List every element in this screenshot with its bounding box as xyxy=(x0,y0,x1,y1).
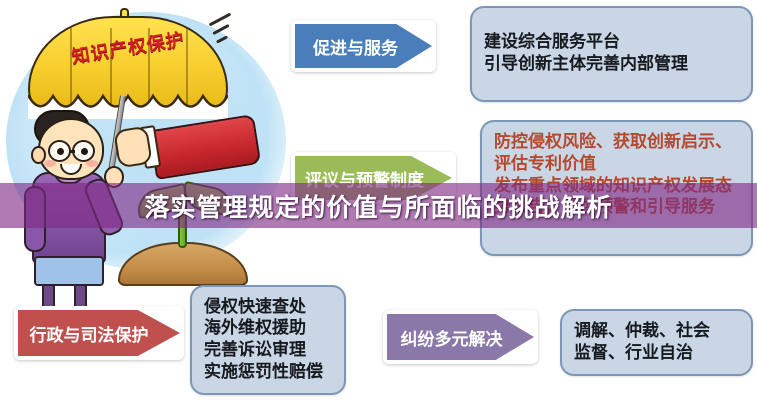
arrow-label-promotion-service: 促进与服务 xyxy=(313,34,398,59)
detail-text-dispute-resolution: 调解、仲裁、社会 监督、行业自治 xyxy=(562,321,722,365)
detail-text-admin-judicial-protection: 侵权快速查处 海外维权援助 完善诉讼审理 实施惩罚性赔偿 xyxy=(192,297,335,384)
arrow-label-admin-judicial-protection: 行政与司法保护 xyxy=(30,321,149,346)
overlay-banner: 落实管理规定的价值与所面临的挑战解析 xyxy=(0,183,757,228)
arrow-admin-judicial-protection[interactable]: 行政与司法保护 xyxy=(14,306,184,360)
detail-text-promotion-service: 建设综合服务平台 引导创新主体完善内部管理 xyxy=(472,32,700,76)
motion-lines-icon xyxy=(206,14,246,48)
boy-cheek-left xyxy=(44,160,56,167)
detail-box-dispute-resolution[interactable]: 调解、仲裁、社会 监督、行业自治 xyxy=(560,309,753,376)
gripping-hand xyxy=(113,126,153,169)
arrow-promotion-service[interactable]: 促进与服务 xyxy=(291,20,436,72)
arrow-dispute-resolution[interactable]: 纠纷多元解决 xyxy=(383,310,538,364)
detail-box-admin-judicial-protection[interactable]: 侵权快速查处 海外维权援助 完善诉讼审理 实施惩罚性赔偿 xyxy=(190,285,346,395)
boy-eye-right xyxy=(81,148,88,155)
boy-cheek-right xyxy=(86,160,98,167)
ip-protection-illustration: 知识产权保护 xyxy=(0,0,300,285)
umbrella-icon: 知识产权保护 xyxy=(28,8,228,118)
boy-shorts xyxy=(34,256,104,286)
boy-eye-left xyxy=(57,148,64,155)
banner-title: 落实管理规定的价值与所面临的挑战解析 xyxy=(144,188,612,224)
boy-glasses-bridge xyxy=(70,150,75,153)
detail-box-promotion-service[interactable]: 建设综合服务平台 引导创新主体完善内部管理 xyxy=(470,6,753,102)
infographic-canvas: 知识产权保护 xyxy=(0,0,757,400)
arrow-label-dispute-resolution: 纠纷多元解决 xyxy=(401,325,503,350)
